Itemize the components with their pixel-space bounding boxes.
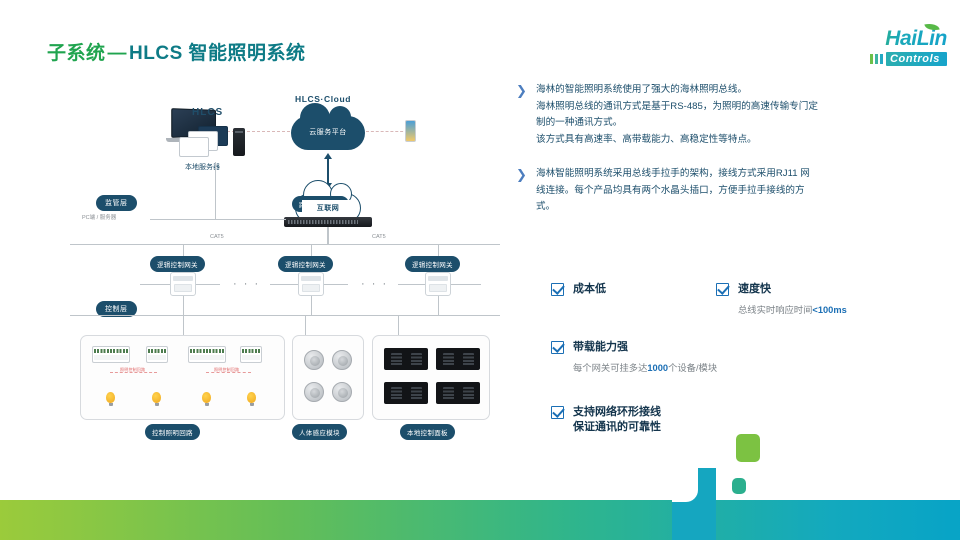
panel-icon-4 [436, 382, 480, 404]
sensor-icon-1 [304, 350, 324, 370]
paragraph-1-body: 海林的智能照明系统使用了强大的海林照明总线。 海林照明总线的通讯方式是基于RS-… [536, 82, 818, 148]
deco-square-green [736, 434, 760, 462]
dashed-link-cloud-phone [366, 131, 408, 132]
monitor-icon-front [179, 137, 209, 157]
cloud-platform-label: 云服务平台 [291, 127, 365, 137]
gateway-tag-1: 逻辑控制网关 [150, 256, 205, 272]
cloud-internet-arrow [327, 158, 329, 184]
gateway-stub-left-2 [270, 284, 298, 285]
paragraph-1: ❯ 海林的智能照明系统使用了强大的海林照明总线。 海林照明总线的通讯方式是基于R… [516, 82, 946, 148]
feature-text-capacity: 带载能力强 每个网关可挂多达1000个设备/模块 [573, 340, 717, 374]
feature-item-capacity[interactable]: 带载能力强 每个网关可挂多达1000个设备/模块 [551, 340, 717, 374]
paragraph-1-line-1: 海林的智能照明系统使用了强大的海林照明总线。 [536, 82, 818, 99]
internet-label: 互联网 [296, 203, 360, 213]
slide-root: 子系统—HLCS 智能照明系统 HaiLin Controls 监管层 控制层 … [0, 0, 960, 540]
server-drop-line [215, 162, 216, 220]
cloud-title: HLCS·Cloud [295, 94, 351, 104]
bulb-icon-1 [106, 392, 115, 403]
gateway-drop-3 [438, 244, 439, 256]
checkbox-checked-icon-1[interactable] [551, 283, 564, 296]
feature-item-speed[interactable]: 速度快 总线实时响应时间<100ms [716, 282, 847, 316]
sensor-icon-3 [304, 382, 324, 402]
panel-icon-2 [436, 348, 480, 370]
din-module-4 [240, 346, 262, 363]
paragraph-1-line-3: 制的一种通讯方式。 [536, 115, 818, 132]
feature-title-speed: 速度快 [738, 282, 847, 297]
logo-bar: Controls [819, 52, 947, 66]
device-label-sensor: 人体感应模块 [292, 424, 347, 440]
device-drop-2 [305, 315, 306, 335]
feature-sub-speed: 总线实时响应时间<100ms [738, 302, 847, 316]
chevron-right-icon-2: ❯ [516, 166, 536, 216]
gateway-module-1 [170, 272, 196, 296]
gateway-down-3 [438, 296, 439, 315]
din-module-3 [188, 346, 226, 363]
main-bus-line [70, 244, 500, 245]
feature-item-cost[interactable]: 成本低 [551, 282, 606, 297]
device-label-panel: 本地控制面板 [400, 424, 455, 440]
brand-logo: HaiLin Controls [819, 28, 947, 72]
bottom-gradient-bar [0, 500, 960, 540]
gateway-stub-right-3 [451, 284, 481, 285]
sensor-icon-2 [332, 350, 352, 370]
sensor-icon-4 [332, 382, 352, 402]
gateway-tag-3: 逻辑控制网关 [405, 256, 460, 272]
bulb-icon-2 [152, 392, 161, 403]
paragraph-2: ❯ 海林智能照明系统采用总线手拉手的架构，接线方式采用RJ11 网 线连接。每个… [516, 166, 946, 216]
feature-title-capacity: 带载能力强 [573, 340, 717, 355]
paragraph-2-line-2: 线连接。每个产品均具有两个水晶头插口，方便手拉手接线的方 [536, 183, 810, 200]
feature-item-ring[interactable]: 支持网络环形接线 保证通讯的可靠性 [551, 405, 661, 435]
layer-tag-supervision: 监管层 [96, 195, 137, 211]
page-title-main: HLCS 智能照明系统 [129, 43, 306, 64]
gateway-drop-1 [183, 244, 184, 256]
feature-text-speed: 速度快 总线实时响应时间<100ms [738, 282, 847, 316]
secondary-bus-line [70, 315, 500, 316]
gateway-ellipsis-1: · · · [233, 278, 260, 290]
checkbox-checked-icon-3[interactable] [551, 341, 564, 354]
device-drop-3 [398, 315, 399, 335]
paragraph-1-line-2: 海林照明总线的通讯方式是基于RS-485，为照明的高速传输专门定 [536, 99, 818, 116]
feature-title-ring: 支持网络环形接线 [573, 405, 661, 420]
gateway-down-2 [311, 296, 312, 315]
gateway-stub-left-1 [140, 284, 170, 285]
cloud-platform-node: 云服务平台 [291, 116, 365, 150]
gateway-module-3 [425, 272, 451, 296]
feature-title-ring-2: 保证通讯的可靠性 [573, 420, 661, 435]
paragraph-2-line-1: 海林智能照明系统采用总线手拉手的架构，接线方式采用RJ11 网 [536, 166, 810, 183]
gateway-module-2 [298, 272, 324, 296]
bulb-icon-3 [202, 392, 211, 403]
page-title: 子系统—HLCS 智能照明系统 [47, 38, 306, 65]
feature-sub-capacity-value: 1000 [647, 363, 668, 373]
feature-sub-capacity-post: 个设备/模块 [668, 363, 717, 373]
pc-server-label: PC端 / 服务器 [82, 213, 116, 221]
hlcs-label: HLCS [192, 107, 223, 118]
paragraph-2-body: 海林智能照明系统采用总线手拉手的架构，接线方式采用RJ11 网 线连接。每个产品… [536, 166, 810, 216]
paragraph-2-line-3: 式。 [536, 199, 810, 216]
pc-switch-trunk-line [150, 219, 286, 220]
gateway-stub-right-1 [196, 284, 220, 285]
bulb-icon-4 [247, 392, 256, 403]
din-module-2 [146, 346, 168, 363]
architecture-diagram: 监管层 控制层 执行层 HLCS·Cloud 云服务平台 互联网 HLCS 本 [80, 82, 505, 452]
logo-bars-icon [868, 52, 886, 66]
checkbox-checked-icon-4[interactable] [551, 406, 564, 419]
switch-bus-drop [328, 227, 329, 244]
gateway-tag-2: 逻辑控制网关 [278, 256, 333, 272]
page-title-prefix: 子系统 [47, 43, 106, 64]
cable-label-left: CAT5 [210, 234, 224, 240]
panel-icon-1 [384, 348, 428, 370]
device-drop-1 [183, 315, 184, 335]
feature-sub-speed-pre: 总线实时响应时间 [738, 305, 812, 315]
bottom-notch-shape [672, 468, 716, 540]
feature-sub-capacity-pre: 每个网关可挂多达 [573, 363, 647, 373]
panel-icon-3 [384, 382, 428, 404]
logo-wordmark: HaiLin [819, 28, 947, 49]
chevron-right-icon: ❯ [516, 82, 536, 148]
gateway-ellipsis-2: · · · [361, 278, 388, 290]
cable-label-right: CAT5 [372, 234, 386, 240]
feature-text-cost: 成本低 [573, 282, 606, 297]
deco-square-teal [732, 478, 746, 494]
server-tower-icon [233, 128, 245, 156]
circuit-tag-1: 照明控制回路 [120, 367, 145, 373]
checkbox-checked-icon-2[interactable] [716, 283, 729, 296]
logo-subtext: Controls [886, 52, 947, 66]
gateway-stub-left-3 [398, 284, 425, 285]
feature-sub-speed-value: <100ms [812, 305, 846, 315]
description-panel: ❯ 海林的智能照明系统使用了强大的海林照明总线。 海林照明总线的通讯方式是基于R… [516, 82, 946, 232]
feature-title-cost: 成本低 [573, 282, 606, 297]
device-box-sensor [292, 335, 364, 420]
page-title-dash: — [106, 43, 130, 64]
paragraph-1-line-4: 该方式具有高速率、高带载能力、高稳定性等特点。 [536, 132, 818, 149]
gateway-drop-2 [311, 244, 312, 256]
gateway-stub-right-2 [324, 284, 348, 285]
din-module-1 [92, 346, 130, 363]
network-switch-icon [284, 217, 372, 227]
feature-text-ring: 支持网络环形接线 保证通讯的可靠性 [573, 405, 661, 435]
feature-sub-capacity: 每个网关可挂多达1000个设备/模块 [573, 360, 717, 374]
smartphone-icon [405, 120, 416, 142]
circuit-tag-2: 照明控制回路 [214, 367, 239, 373]
gateway-down-1 [183, 296, 184, 315]
device-label-lighting: 控制照明回路 [145, 424, 200, 440]
